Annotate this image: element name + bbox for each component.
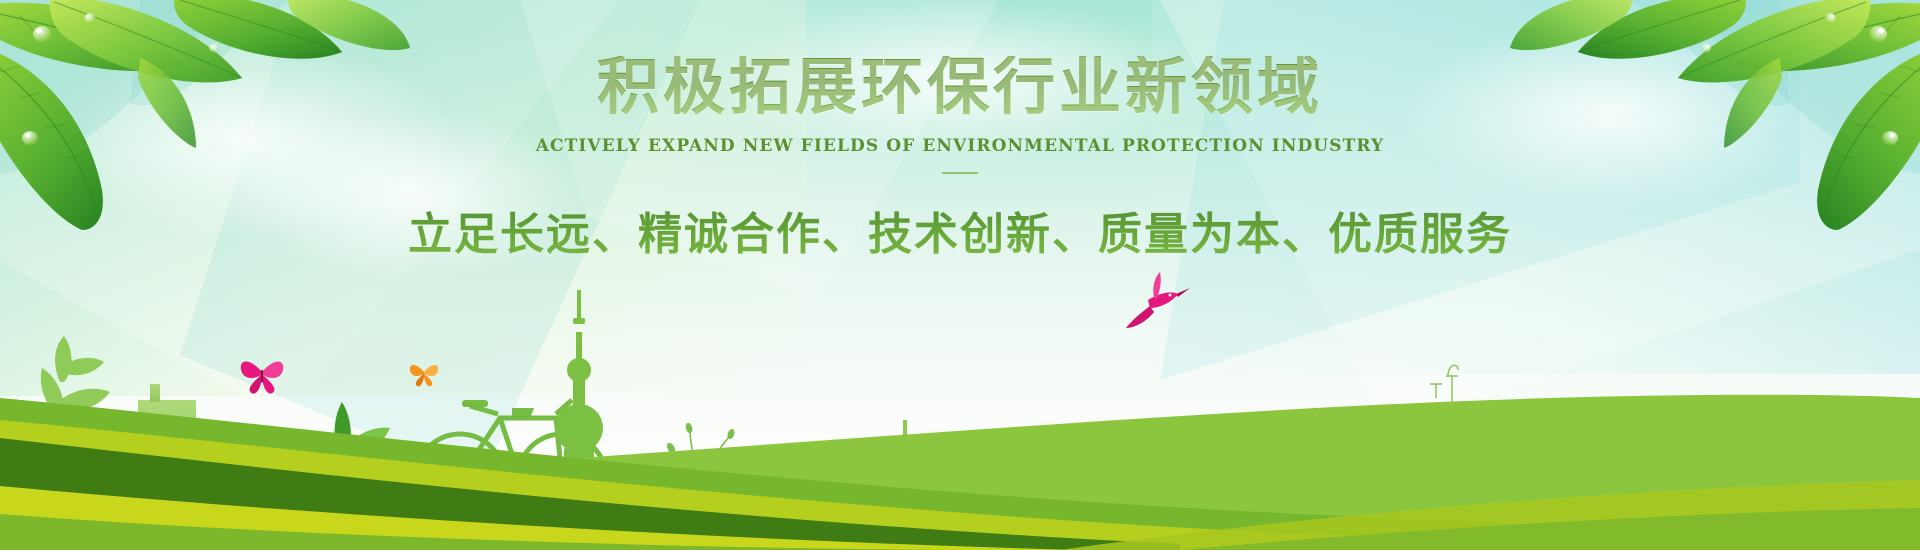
banner-text-block: 积极拓展环保行业新领域 ACTIVELY EXPAND NEW FIELDS O… [0,56,1920,262]
eco-banner: 积极拓展环保行业新领域 ACTIVELY EXPAND NEW FIELDS O… [0,0,1920,550]
page-subtitle-english: ACTIVELY EXPAND NEW FIELDS OF ENVIRONMEN… [0,136,1920,156]
page-tagline-chinese: 立足长远、精诚合作、技术创新、质量为本、优质服务 [0,198,1920,262]
page-title: 积极拓展环保行业新领域 [0,56,1920,118]
title-divider [942,172,978,174]
wave-bands-icon [0,290,1920,550]
